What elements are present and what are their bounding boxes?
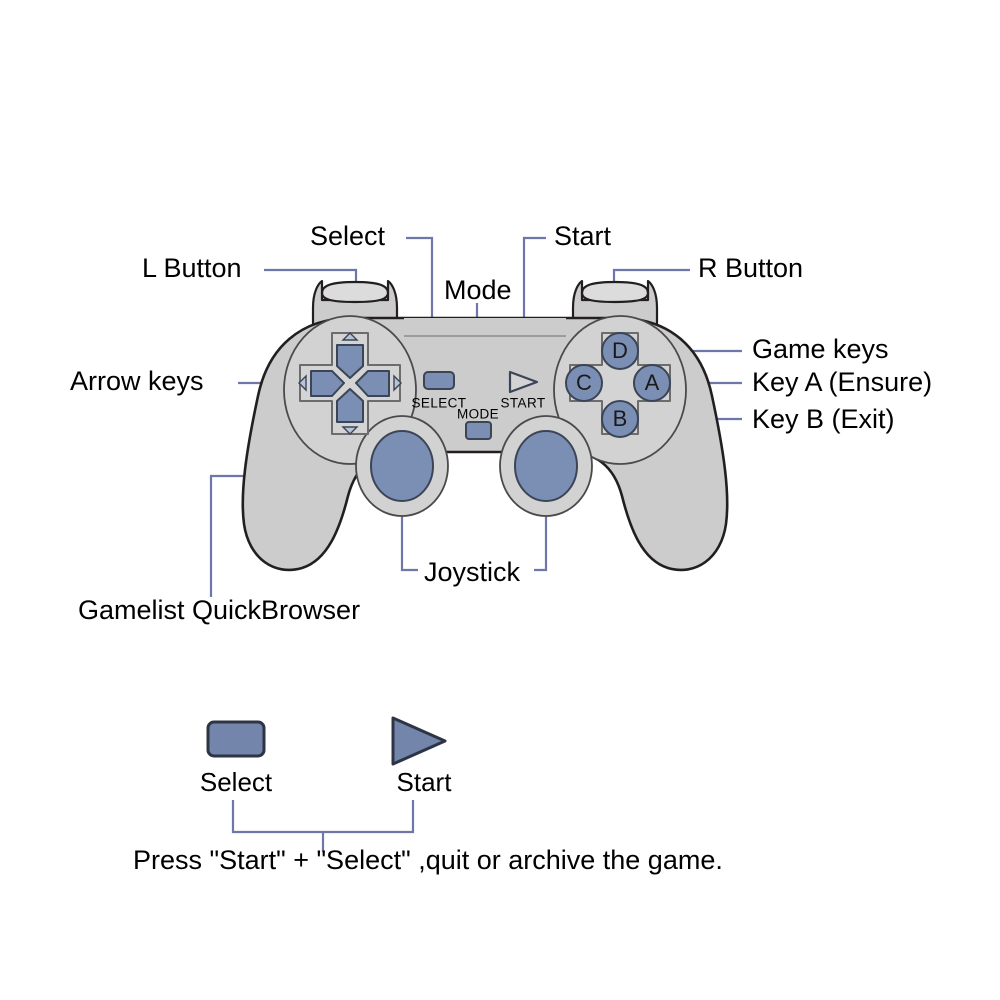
device-start-label: START — [500, 396, 545, 411]
legend-start-swatch — [393, 718, 445, 764]
callout-key-b: Key B (Exit) — [752, 404, 895, 434]
callout-mode: Mode — [444, 275, 512, 305]
callout-l-button: L Button — [142, 253, 242, 283]
controller-top-bar — [404, 318, 566, 336]
device-mode-label: MODE — [457, 407, 499, 422]
callout-r-button: R Button — [698, 253, 803, 283]
legend-select-label: Select — [200, 767, 273, 797]
right-joystick[interactable] — [515, 431, 577, 501]
device-select-button[interactable] — [424, 372, 454, 389]
callout-gamelist: Gamelist QuickBrowser — [78, 595, 360, 625]
gamepad-diagram: D C A B SELECT MODE START — [0, 0, 1000, 1000]
diagram-canvas: D C A B SELECT MODE START — [0, 0, 1000, 1000]
legend-start-label: Start — [397, 767, 453, 797]
face-button-a-label: A — [645, 370, 660, 395]
face-button-c-label: C — [576, 370, 592, 395]
callout-joystick: Joystick — [424, 557, 521, 587]
callout-start: Start — [554, 221, 612, 251]
legend-instruction: Press "Start" + "Select" ,quit or archiv… — [133, 845, 723, 875]
callout-game-keys: Game keys — [752, 334, 889, 364]
callout-key-a: Key A (Ensure) — [752, 367, 932, 397]
callout-arrow-keys: Arrow keys — [70, 366, 204, 396]
left-joystick[interactable] — [371, 431, 433, 501]
controller-body-group: D C A B SELECT MODE START — [243, 281, 727, 570]
legend-select-swatch — [208, 722, 264, 756]
face-button-d-label: D — [612, 338, 628, 363]
callout-select: Select — [310, 221, 386, 251]
face-button-b-label: B — [613, 406, 628, 431]
legend-group: Select Start Press "Start" + "Select" ,q… — [133, 718, 723, 875]
leader-legend-bracket — [233, 800, 413, 832]
device-mode-button[interactable] — [466, 422, 491, 439]
